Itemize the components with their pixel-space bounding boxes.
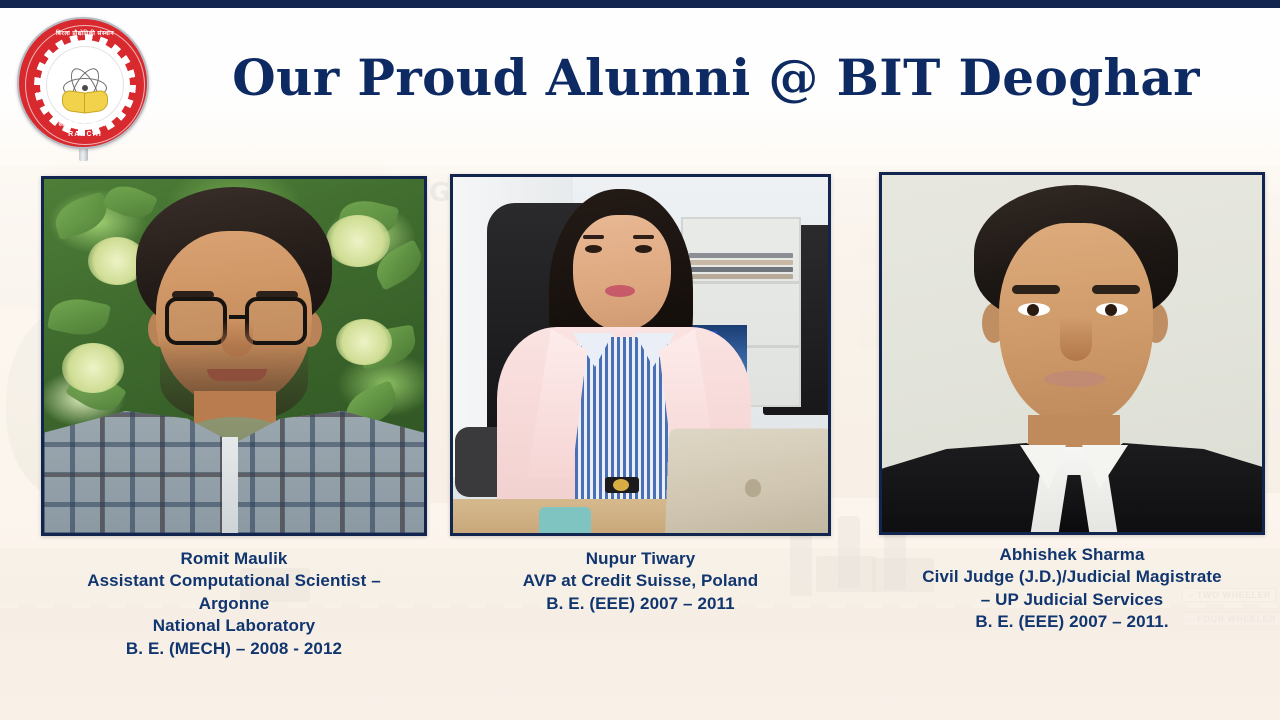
- alumni-2-name: Nupur Tiwary: [430, 548, 851, 570]
- alumni-3-role-line-2: – UP Judicial Services: [867, 589, 1277, 611]
- alumni-1-degree: B. E. (MECH) – 2008 - 2012: [21, 638, 447, 660]
- alumnus-photo-abhishek-sharma: [882, 175, 1262, 532]
- alumni-caption-1: Romit Maulik Assistant Computational Sci…: [21, 548, 447, 660]
- alumni-1-role-line-3: National Laboratory: [21, 615, 447, 637]
- alumni-1-role-line-2: Argonne: [21, 593, 447, 615]
- logo-city-label: RANCHI: [19, 131, 151, 138]
- alumni-1-name: Romit Maulik: [21, 548, 447, 570]
- page-title: Our Proud Alumni @ BIT Deoghar: [160, 52, 1272, 104]
- top-accent-bar: [0, 0, 1280, 8]
- alumnus-photo-nupur-tiwary: WIELKI BÓJ: [453, 177, 828, 533]
- open-book-icon: [62, 91, 108, 110]
- alumni-2-role: AVP at Credit Suisse, Poland: [430, 570, 851, 592]
- alumni-caption-2: Nupur Tiwary AVP at Credit Suisse, Polan…: [430, 548, 851, 615]
- bit-logo: बिरला प्रौद्योगिकी संस्थान सा विद्या या …: [17, 17, 151, 157]
- alumnus-photo-romit-maulik: [44, 179, 424, 533]
- slide-canvas: ← TWO WHEELER ← FOUR WHEELER बिरला प्रौद…: [0, 0, 1280, 720]
- alumni-3-degree: B. E. (EEE) 2007 – 2011.: [867, 611, 1277, 633]
- alumni-caption-3: Abhishek Sharma Civil Judge (J.D.)/Judic…: [867, 544, 1277, 634]
- alumni-3-role-line-1: Civil Judge (J.D.)/Judicial Magistrate: [867, 566, 1277, 588]
- photo-frame-1: [41, 176, 427, 536]
- alumni-1-role-line-1: Assistant Computational Scientist –: [21, 570, 447, 592]
- logo-arc-text-bottom: सा विद्या या विमुक्तये: [19, 119, 151, 128]
- logo-center-disc: [46, 46, 124, 124]
- photo-frame-3: [879, 172, 1265, 535]
- photo-frame-2: WIELKI BÓJ: [450, 174, 831, 536]
- logo-seal: बिरला प्रौद्योगिकी संस्थान सा विद्या या …: [17, 17, 149, 149]
- alumni-3-name: Abhishek Sharma: [867, 544, 1277, 566]
- alumni-2-degree: B. E. (EEE) 2007 – 2011: [430, 593, 851, 615]
- watermark-letter: G: [429, 178, 450, 208]
